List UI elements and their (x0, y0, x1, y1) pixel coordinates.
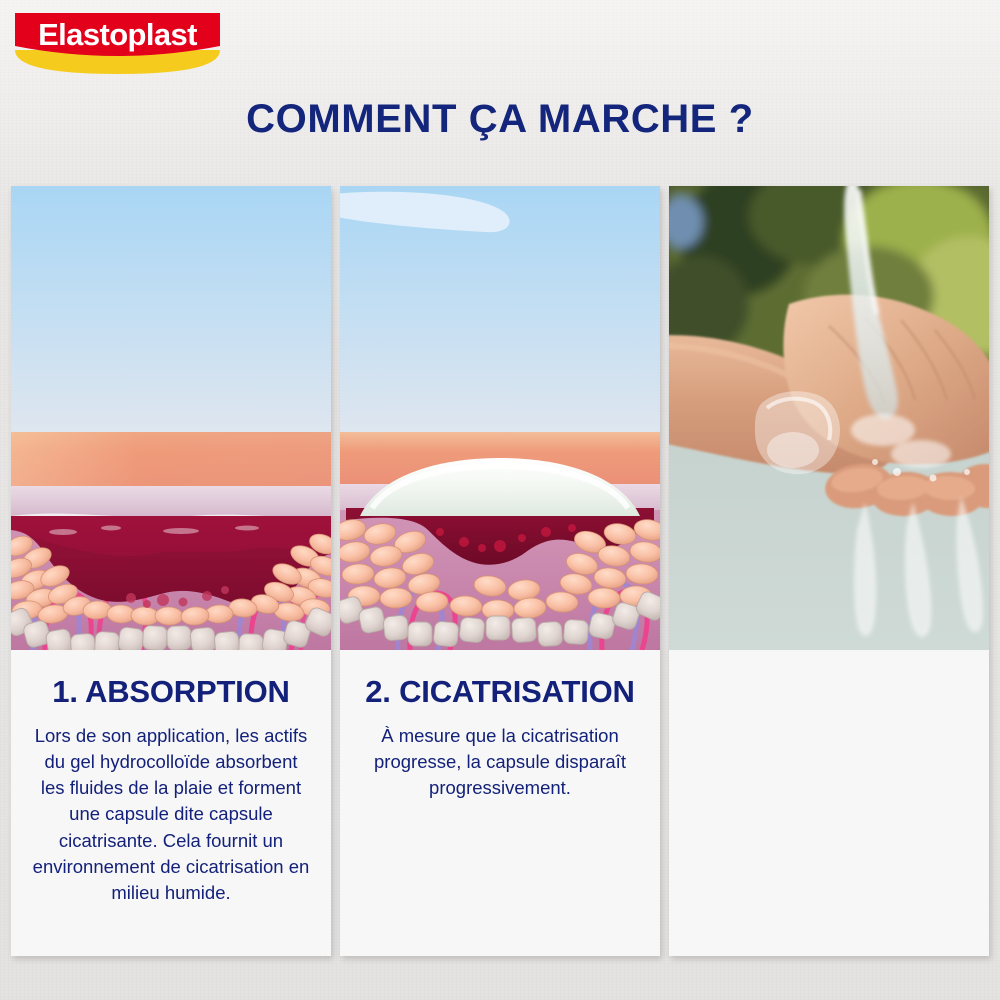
step-2-description: À mesure que la cicatrisation progresse,… (354, 723, 646, 802)
step-3-photo (669, 186, 989, 650)
step-card-cicatrisation[interactable]: 2. CICATRISATION À mesure que la cicatri… (340, 186, 660, 956)
step-1-title: 1. ABSORPTION (25, 676, 317, 709)
step-2-title: 2. CICATRISATION (354, 676, 646, 709)
transparent-plaster (755, 391, 840, 474)
logo-wordmark: Elastoplast (38, 17, 197, 52)
elastoplast-logo[interactable]: Elastoplast (11, 10, 224, 76)
hands-under-water-photo (669, 186, 989, 650)
step-1-description: Lors de son application, les actifs du g… (25, 723, 317, 907)
step-1-illustration (11, 186, 331, 650)
page-title: COMMENT ÇA MARCHE ? (0, 97, 1000, 142)
step-card-absorption[interactable]: 1. ABSORPTION Lors de son application, l… (11, 186, 331, 956)
step-1-text-block: 1. ABSORPTION Lors de son application, l… (11, 650, 331, 956)
logo-graphic: Elastoplast (11, 10, 224, 76)
step-2-text-block: 2. CICATRISATION À mesure que la cicatri… (340, 650, 660, 956)
steps-row: 1. ABSORPTION Lors de son application, l… (11, 186, 989, 956)
step-2-illustration (340, 186, 660, 650)
step-card-protection[interactable]: 3. PROTECTION Laissez le pansement en pl… (669, 186, 989, 956)
sky-background (11, 186, 331, 434)
